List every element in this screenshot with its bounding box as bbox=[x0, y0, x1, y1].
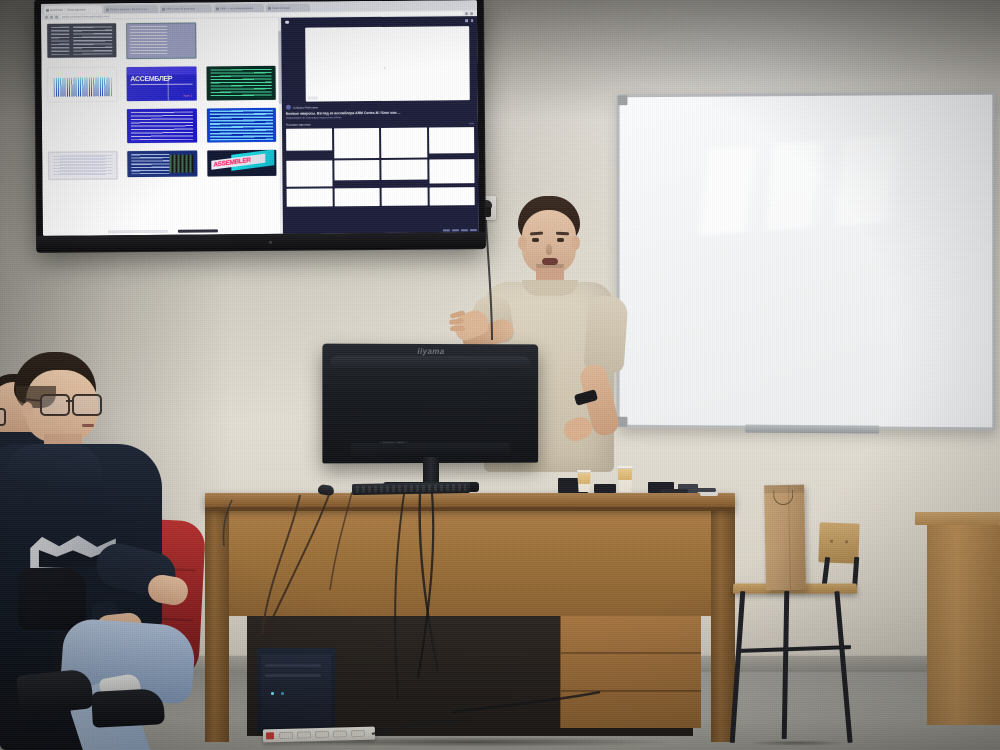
forward-icon[interactable] bbox=[50, 15, 53, 18]
marker[interactable] bbox=[660, 489, 688, 493]
side-desk-top bbox=[915, 512, 1000, 525]
hoodie-hood bbox=[6, 444, 102, 488]
profile-icon[interactable] bbox=[465, 12, 468, 15]
power-strip-socket[interactable] bbox=[351, 730, 365, 737]
panel-indicator-icon bbox=[285, 20, 289, 24]
whiteboard bbox=[617, 92, 996, 431]
book-rule bbox=[130, 84, 192, 85]
chair-backrest-hole bbox=[830, 540, 833, 543]
result-thumbnail[interactable] bbox=[48, 109, 118, 144]
panel-actions[interactable] bbox=[465, 19, 473, 22]
chevron-left-icon[interactable] bbox=[465, 19, 468, 22]
tab-favicon bbox=[268, 6, 271, 9]
reload-icon[interactable] bbox=[55, 15, 58, 18]
thumbnail-grid: АССЕМБЛЕР Урок 1 bbox=[47, 22, 276, 180]
eyeglass-bridge bbox=[66, 400, 73, 402]
power-strip-switch[interactable] bbox=[266, 732, 274, 739]
monitor-back-panel: iiyama PROLITE bbox=[322, 344, 538, 464]
browser-tab[interactable]: ассемблер — Поиск картинок bbox=[44, 5, 102, 14]
tv-screen[interactable]: ассемблер — Поиск картинок Боевые макрос… bbox=[41, 0, 479, 236]
side-desk-panel bbox=[927, 525, 1000, 725]
tab-label: Хабр — программирование bbox=[220, 7, 253, 10]
student-backpack bbox=[18, 568, 86, 630]
section-label: Похожие картинки bbox=[286, 123, 311, 127]
monitor-stand-neck bbox=[423, 457, 439, 485]
iiyama-monitor[interactable]: iiyama PROLITE bbox=[323, 344, 539, 494]
presenter-ear bbox=[571, 236, 580, 250]
chair-leg bbox=[834, 591, 852, 743]
cup-rim bbox=[576, 472, 592, 473]
related-cards-grid bbox=[286, 127, 475, 207]
footer-placeholder bbox=[178, 229, 218, 232]
pc-tower bbox=[257, 648, 335, 733]
classroom-photo: ассемблер — Поиск картинок Боевые макрос… bbox=[0, 0, 1000, 750]
related-card[interactable] bbox=[334, 160, 380, 180]
tv-bezel: ассемблер — Поиск картинок Боевые макрос… bbox=[41, 0, 479, 236]
black-boot bbox=[16, 668, 94, 716]
desk-leg bbox=[205, 510, 229, 742]
pc-drive-slot bbox=[265, 674, 321, 677]
related-card[interactable] bbox=[334, 128, 380, 158]
presenter-eye bbox=[532, 238, 539, 242]
cup-contents bbox=[617, 469, 633, 480]
tab-favicon bbox=[106, 8, 109, 11]
eyeglass-lens bbox=[40, 394, 70, 416]
result-thumbnail-assembler-book[interactable]: АССЕМБЛЕР Урок 1 bbox=[127, 67, 197, 102]
result-thumbnail-assembler-banner[interactable]: ASSEMBLER bbox=[207, 150, 277, 177]
presenter-ear bbox=[518, 236, 527, 250]
presenter-nose bbox=[546, 244, 552, 255]
tab-label: Новая вкладка bbox=[272, 6, 290, 9]
chair-floor-shadow bbox=[727, 739, 867, 747]
tv-power-led bbox=[269, 241, 272, 244]
monitor-vent bbox=[330, 356, 530, 371]
player-center-dot bbox=[384, 67, 386, 69]
pc-power-led bbox=[271, 692, 274, 695]
result-thumbnail[interactable] bbox=[48, 67, 118, 102]
pc-drive-slot bbox=[265, 664, 321, 667]
video-subtitle: Информация об этом видео недоступна сейч… bbox=[286, 115, 474, 120]
browser-tab[interactable]: Хабр — программирование bbox=[214, 4, 264, 12]
avatar bbox=[286, 105, 291, 110]
presenter-finger bbox=[450, 326, 465, 332]
related-card[interactable] bbox=[382, 188, 428, 206]
related-card[interactable] bbox=[286, 128, 332, 150]
eyeglasses bbox=[40, 394, 102, 414]
power-strip-socket[interactable] bbox=[297, 731, 311, 738]
pc-activity-led bbox=[281, 692, 284, 695]
marker[interactable] bbox=[700, 492, 718, 496]
paper-gift-bag[interactable] bbox=[764, 485, 806, 591]
power-strip-socket[interactable] bbox=[279, 732, 293, 739]
image-search-results[interactable]: АССЕМБЛЕР Урок 1 bbox=[41, 18, 283, 236]
eyeglass-lens bbox=[72, 394, 102, 416]
wall-mounted-tv[interactable]: ассемблер — Поиск картинок Боевые макрос… bbox=[35, 0, 485, 252]
tab-label: ARM Cortex-M assembly bbox=[166, 7, 195, 10]
tab-label: ассемблер — Поиск картинок bbox=[50, 8, 86, 11]
video-article-panel[interactable]: Собрано Работаем Боевые макросы. Взгляд … bbox=[281, 16, 479, 234]
channel-row[interactable]: Собрано Работаем bbox=[286, 103, 474, 110]
black-boot bbox=[91, 688, 165, 728]
book-header-band bbox=[127, 67, 196, 76]
presenter-collar bbox=[522, 280, 578, 296]
related-card[interactable] bbox=[429, 127, 475, 153]
chair-stretcher-rail bbox=[739, 645, 851, 653]
tab-label: Боевые макросы. Взгляд из ас... bbox=[110, 7, 149, 10]
monitor-stand-plate bbox=[351, 443, 511, 457]
related-card[interactable] bbox=[286, 160, 332, 186]
result-thumbnail[interactable] bbox=[48, 151, 118, 180]
video-panel-topbar bbox=[281, 16, 477, 27]
chair-leg bbox=[730, 591, 746, 743]
book-title: АССЕМБЛЕР bbox=[130, 76, 172, 83]
related-card[interactable] bbox=[381, 160, 427, 180]
cup-rim bbox=[616, 468, 634, 469]
more-link[interactable]: Ещё bbox=[469, 122, 474, 125]
monitor-brand-logo: iiyama bbox=[417, 347, 444, 356]
tab-favicon bbox=[46, 8, 49, 11]
section-row: Похожие картинки Ещё bbox=[286, 121, 474, 127]
power-strip-socket[interactable] bbox=[315, 731, 329, 738]
result-thumbnail[interactable] bbox=[127, 109, 197, 144]
control-chip-icon[interactable] bbox=[443, 229, 450, 231]
tab-favicon bbox=[216, 7, 219, 10]
footer-placeholder bbox=[108, 230, 168, 234]
video-player[interactable] bbox=[305, 26, 470, 101]
whiteboard-marker-tray bbox=[745, 425, 879, 434]
tab-favicon bbox=[162, 7, 165, 10]
drawer-seam bbox=[561, 652, 701, 654]
cup-contents bbox=[577, 473, 591, 484]
power-strip-socket[interactable] bbox=[333, 730, 347, 737]
book-subtitle: Урок 1 bbox=[183, 93, 192, 97]
paper-coffee-cup[interactable] bbox=[616, 466, 634, 492]
result-thumbnail[interactable] bbox=[206, 66, 276, 101]
related-card[interactable] bbox=[429, 159, 475, 183]
chair-backrest-hole bbox=[845, 540, 848, 543]
chair-leg bbox=[782, 591, 790, 739]
bag-handle bbox=[773, 490, 793, 505]
paper-coffee-cup[interactable] bbox=[576, 470, 592, 492]
page-body: АССЕМБЛЕР Урок 1 bbox=[41, 16, 479, 236]
presenter-eye bbox=[557, 238, 564, 242]
desk-drawer-unit[interactable] bbox=[560, 616, 701, 728]
whiteboard-glare bbox=[683, 133, 927, 236]
chevron-right-icon[interactable] bbox=[471, 19, 474, 22]
browser-tab[interactable]: ARM Cortex-M assembly bbox=[160, 4, 212, 12]
side-desk bbox=[915, 512, 1000, 750]
channel-name: Собрано Работаем bbox=[293, 105, 318, 109]
result-thumbnail[interactable] bbox=[206, 22, 276, 57]
board-chips bbox=[169, 155, 193, 173]
more-vertical-icon[interactable] bbox=[470, 12, 473, 15]
related-card[interactable] bbox=[334, 188, 380, 206]
desk-device bbox=[594, 484, 616, 493]
result-thumbnail[interactable] bbox=[47, 23, 117, 58]
presenter-right-sleeve bbox=[583, 295, 628, 374]
related-card[interactable] bbox=[381, 128, 427, 158]
browser-tab[interactable]: Новая вкладка bbox=[266, 4, 310, 12]
back-icon[interactable] bbox=[45, 15, 48, 18]
desk-edge bbox=[205, 507, 735, 511]
keyboard[interactable] bbox=[352, 482, 470, 495]
student-ear bbox=[22, 402, 33, 418]
student-mouth bbox=[82, 424, 94, 427]
result-thumbnail[interactable] bbox=[207, 108, 277, 143]
player-progress-bar[interactable] bbox=[308, 96, 318, 99]
result-thumbnail[interactable] bbox=[128, 151, 198, 178]
desk-apron bbox=[223, 510, 717, 616]
video-metadata: Собрано Работаем Боевые макросы. Взгляд … bbox=[282, 100, 479, 207]
related-card[interactable] bbox=[287, 188, 333, 206]
result-thumbnail[interactable] bbox=[126, 23, 196, 60]
drawer-seam bbox=[561, 690, 701, 692]
whiteboard-corner-bracket bbox=[618, 95, 628, 105]
browser-tab[interactable]: Боевые макросы. Взгляд из ас... bbox=[104, 5, 158, 13]
